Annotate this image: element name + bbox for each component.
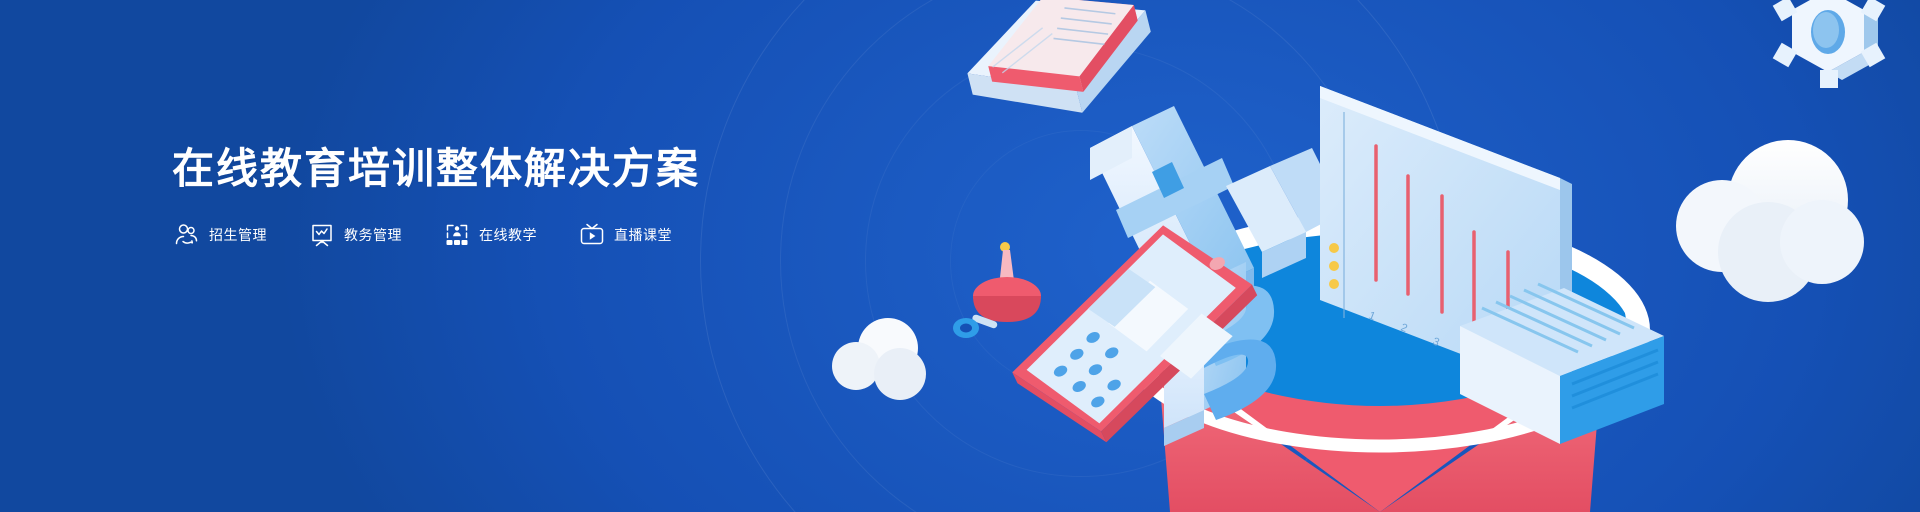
feature-list: 招生管理 教务管理 <box>174 222 672 248</box>
gear <box>1773 0 1886 88</box>
tv-play-icon <box>579 222 605 248</box>
pin-marker <box>953 242 1041 338</box>
education-illustration: 1 2 3 4 5 6 <box>760 0 1920 512</box>
page-title: 在线教育培训整体解决方案 <box>172 148 700 190</box>
feature-item-online-teaching[interactable]: 在线教学 <box>444 222 537 248</box>
open-book <box>954 0 1166 137</box>
feature-item-enrollment[interactable]: 招生管理 <box>174 222 267 248</box>
cloud-large <box>1676 140 1864 302</box>
chart-board-icon <box>309 222 335 248</box>
feature-label: 直播课堂 <box>614 228 672 242</box>
feature-item-live-class[interactable]: 直播课堂 <box>579 222 672 248</box>
feature-label: 教务管理 <box>344 228 402 242</box>
banner-content: 在线教育培训整体解决方案 招生管理 <box>172 0 872 512</box>
teacher-screen-icon <box>444 222 470 248</box>
education-hero-banner: 1 2 3 4 5 6 <box>0 0 1920 512</box>
feature-label: 招生管理 <box>209 228 267 242</box>
feature-item-academic-affairs[interactable]: 教务管理 <box>309 222 402 248</box>
feature-label: 在线教学 <box>479 228 537 242</box>
user-group-icon <box>174 222 200 248</box>
